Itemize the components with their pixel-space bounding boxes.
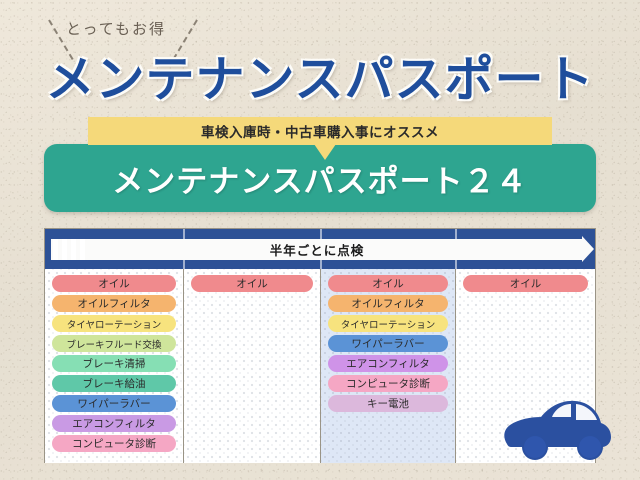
service-pill: キー電池: [328, 395, 448, 412]
service-pill: オイルフィルタ: [52, 295, 176, 312]
service-pill: オイル: [191, 275, 313, 292]
service-pill: オイルフィルタ: [328, 295, 448, 312]
barcode-bar: [53, 239, 58, 260]
arrow-head-icon: [582, 236, 594, 262]
recommend-banner: 車検入庫時・中古車購入事にオススメ: [88, 117, 552, 145]
service-pill: ワイパーラバー: [52, 395, 176, 412]
catch-copy-row: とってもお得: [0, 14, 640, 48]
car-icon: [497, 392, 615, 464]
service-pill: エアコンフィルタ: [328, 355, 448, 372]
service-column-3-highlighted: オイルオイルフィルタタイヤローテーションワイパーラバーエアコンフィルタコンピュー…: [321, 269, 456, 463]
barcode-bars-icon: [53, 239, 85, 260]
interval-arrow-strip: 半年ごとに点検: [51, 239, 583, 260]
service-pill: コンピュータ診断: [52, 435, 176, 452]
service-pill: タイヤローテーション: [52, 315, 176, 332]
page-title: メンテナンスパスポート: [0, 52, 640, 108]
recommend-banner-text: 車検入庫時・中古車購入事にオススメ: [201, 121, 439, 141]
service-column-1: オイルオイルフィルタタイヤローテーションブレーキフルード交換ブレーキ清掃ブレーキ…: [45, 269, 184, 463]
service-pill: オイル: [328, 275, 448, 292]
service-pill: オイル: [52, 275, 176, 292]
poster-canvas: とってもお得 メンテナンスパスポート 車検入庫時・中古車購入事にオススメ メンテ…: [0, 0, 640, 480]
service-pill: ブレーキフルード交換: [52, 335, 176, 352]
service-pill: タイヤローテーション: [328, 315, 448, 332]
barcode-bar: [80, 239, 85, 260]
interval-arrow-label: 半年ごとに点検: [270, 240, 365, 259]
service-column-2: オイル: [184, 269, 321, 463]
service-pill: エアコンフィルタ: [52, 415, 176, 432]
service-pill: オイル: [463, 275, 588, 292]
banner-pointer-icon: [314, 144, 336, 160]
product-name-text: メンテナンスパスポート２４: [112, 156, 527, 201]
service-pill: ブレーキ給油: [52, 375, 176, 392]
barcode-bar: [62, 239, 67, 260]
service-pill: コンピュータ診断: [328, 375, 448, 392]
barcode-bar: [71, 239, 76, 260]
table-header-band: 半年ごとに点検: [45, 229, 595, 269]
service-pill: ブレーキ清掃: [52, 355, 176, 372]
catch-copy-text: とってもお得: [66, 18, 166, 39]
service-pill: ワイパーラバー: [328, 335, 448, 352]
